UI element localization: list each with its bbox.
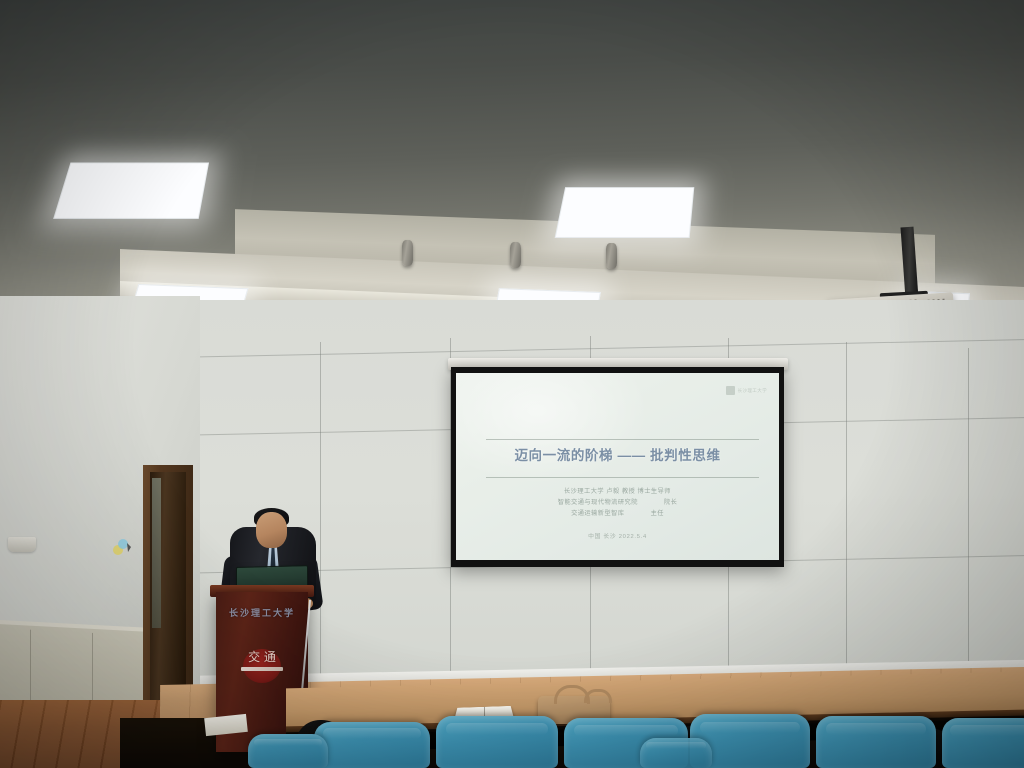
- slide-title: 迈向一流的阶梯 —— 批判性思维: [456, 444, 779, 464]
- podium-emblem-bar-icon: [241, 667, 283, 671]
- led-panel-light-1: [53, 162, 209, 218]
- slide-affiliation-line-2-right: 院长: [664, 499, 677, 506]
- podium-emblem: 交 通: [239, 647, 285, 699]
- chair-8[interactable]: [640, 738, 712, 768]
- slide-affiliation-line-3-right: 主任: [651, 510, 664, 517]
- wall-seam-v-2: [320, 342, 321, 720]
- slide-rule-bottom: [486, 477, 759, 478]
- slide-affiliation-line-1: 长沙理工大学 卢毅 教授 博士生导师: [456, 486, 779, 497]
- handbag-handle-secondary-icon: [584, 689, 612, 703]
- podium-emblem-glyph: 交 通: [239, 651, 285, 664]
- downlight-1: [402, 240, 413, 266]
- downlight-3: [606, 243, 617, 269]
- presentation-slide: 长沙理工大学 迈向一流的阶梯 —— 批判性思维 长沙理工大学 卢毅 教授 博士生…: [456, 373, 779, 560]
- slide-affiliation-line-3-left: 交通运输新型智库: [571, 510, 625, 517]
- slide-affiliation-block: 长沙理工大学 卢毅 教授 博士生导师 智能交通与现代物流研究院院长 交通运输新型…: [456, 486, 779, 519]
- poster-graphic-icon: [112, 538, 134, 558]
- wall-speaker-icon: [8, 537, 36, 552]
- lecture-hall-photo: 长沙理工大学 迈向一流的阶梯 —— 批判性思维 长沙理工大学 卢毅 教授 博士生…: [0, 0, 1024, 768]
- chair-7[interactable]: [248, 734, 328, 768]
- podium-label: 长沙理工大学: [216, 606, 308, 619]
- door-glass-panel: [152, 478, 161, 628]
- slide-affiliation-line-2: 智能交通与现代物流研究院院长: [456, 497, 779, 508]
- slide-logo-text: 长沙理工大学: [738, 388, 767, 394]
- chair-6[interactable]: [942, 718, 1024, 768]
- chair-5[interactable]: [816, 716, 936, 768]
- chair-2[interactable]: [436, 716, 558, 768]
- speaker-head: [256, 512, 287, 548]
- slide-affiliation-line-3: 交通运输新型智库主任: [456, 508, 779, 519]
- slide-date-line: 中国 长沙 2022.5.4: [456, 531, 779, 540]
- slide-affiliation-line-2-left: 智能交通与现代物流研究院: [558, 499, 638, 506]
- projector-glare: [456, 373, 650, 485]
- chair-1[interactable]: [314, 722, 430, 768]
- wainscot-seam-1: [30, 630, 31, 708]
- university-logo-mark-icon: [726, 386, 735, 395]
- led-panel-light-2: [555, 187, 695, 238]
- slide-university-logo: 长沙理工大学: [726, 386, 767, 395]
- projection-screen: 长沙理工大学 迈向一流的阶梯 —— 批判性思维 长沙理工大学 卢毅 教授 博士生…: [451, 367, 784, 567]
- slide-rule-top: [486, 439, 759, 440]
- wall-seam-h-0: [176, 339, 1024, 358]
- downlight-2: [510, 242, 521, 268]
- wall-poster: [112, 538, 134, 558]
